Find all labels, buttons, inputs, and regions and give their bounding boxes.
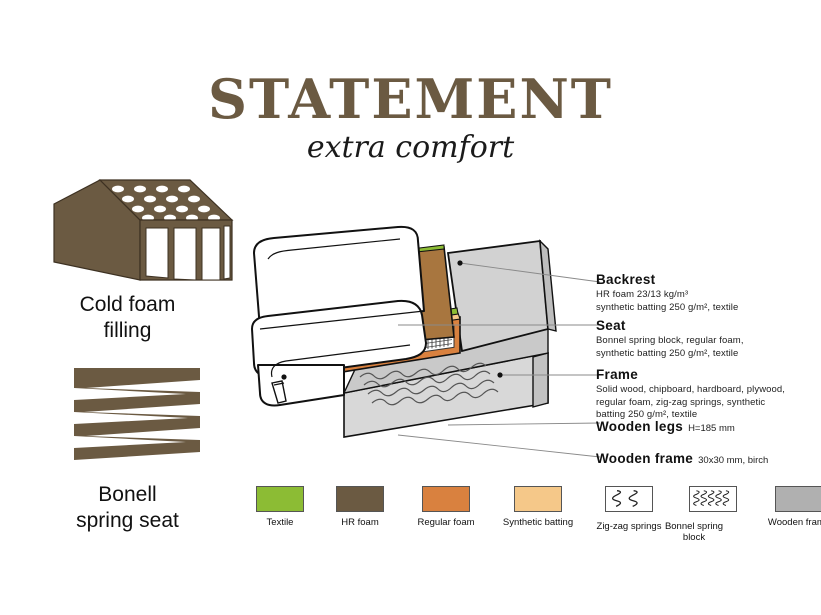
- cold-foam-caption-line2: filling: [20, 318, 235, 344]
- annotation-frame: Frame Solid wood, chipboard, hardboard, …: [596, 367, 785, 422]
- bonell-spring-caption: Bonell spring seat: [20, 482, 235, 535]
- legend-label-synthetic-batting: Synthetic batting: [492, 517, 584, 528]
- annotation-wooden-frame: Wooden frame 30x30 mm, birch: [596, 451, 768, 466]
- infographic-canvas: STATEMENT extra comfort: [0, 0, 821, 615]
- legend-item-regular-foam: Regular foam: [408, 486, 484, 528]
- annotation-seat-title: Seat: [596, 318, 744, 333]
- legend-item-zig-zag-springs: Zig-zag springs: [586, 486, 672, 532]
- cold-foam-caption: Cold foam filling: [20, 292, 235, 345]
- annotation-backrest-line1: HR foam 23/13 kg/m³: [596, 289, 688, 300]
- legend-label-zig-zag-springs: Zig-zag springs: [586, 521, 672, 532]
- legend-swatch-bonnel-spring-block: [689, 486, 737, 512]
- annotation-backrest-title: Backrest: [596, 272, 738, 287]
- legend-label-regular-foam: Regular foam: [408, 517, 484, 528]
- legend: Textile HR foam Regular foam Synthetic b…: [248, 486, 808, 546]
- annotation-wooden-legs-title: Wooden legs: [596, 419, 683, 434]
- legend-item-bonnel-spring-block: Bonnel spring block: [670, 486, 756, 544]
- annotation-backrest: Backrest HR foam 23/13 kg/m³ synthetic b…: [596, 272, 738, 314]
- zigzag-spring-icon: [62, 362, 212, 472]
- sofa-cutaway-illustration: [248, 225, 608, 485]
- annotation-frame-title: Frame: [596, 367, 785, 382]
- annotation-wooden-frame-detail: 30x30 mm, birch: [698, 455, 768, 466]
- annotation-seat-line2: synthetic batting 250 g/m², textile: [596, 348, 738, 359]
- page-subtitle: extra comfort: [0, 133, 821, 163]
- annotation-seat-line1: Bonnel spring block, regular foam,: [596, 335, 744, 346]
- cold-foam-caption-line1: Cold foam: [20, 292, 235, 318]
- bonell-spring-caption-line1: Bonell: [20, 482, 235, 508]
- legend-label-textile: Textile: [248, 517, 312, 528]
- legend-label-hr-foam: HR foam: [328, 517, 392, 528]
- legend-swatch-regular-foam: [422, 486, 470, 512]
- legend-swatch-hr-foam: [336, 486, 384, 512]
- legend-swatch-zig-zag-springs: [605, 486, 653, 512]
- legend-swatch-textile: [256, 486, 304, 512]
- legend-item-hr-foam: HR foam: [328, 486, 392, 528]
- cold-foam-block-icon: [42, 176, 242, 296]
- legend-label-wooden-frame: Wooden frame: [756, 517, 821, 528]
- annotation-frame-line2: regular foam, zig-zag springs, synthetic: [596, 397, 765, 408]
- legend-swatch-wooden-frame: [775, 486, 821, 512]
- annotation-wooden-legs-detail: H=185 mm: [688, 423, 735, 434]
- page-title: STATEMENT: [0, 72, 821, 126]
- annotation-backrest-line2: synthetic batting 250 g/m², textile: [596, 302, 738, 313]
- bonell-spring-caption-line2: spring seat: [20, 508, 235, 534]
- legend-swatch-synthetic-batting: [514, 486, 562, 512]
- annotation-wooden-legs: Wooden legs H=185 mm: [596, 419, 735, 434]
- annotation-wooden-frame-title: Wooden frame: [596, 451, 693, 466]
- legend-label-bonnel-spring-block: Bonnel spring block: [662, 521, 726, 544]
- legend-item-synthetic-batting: Synthetic batting: [492, 486, 584, 528]
- legend-item-textile: Textile: [248, 486, 312, 528]
- legend-item-wooden-frame: Wooden frame: [756, 486, 821, 528]
- annotation-frame-line1: Solid wood, chipboard, hardboard, plywoo…: [596, 384, 785, 395]
- annotation-seat: Seat Bonnel spring block, regular foam, …: [596, 318, 744, 360]
